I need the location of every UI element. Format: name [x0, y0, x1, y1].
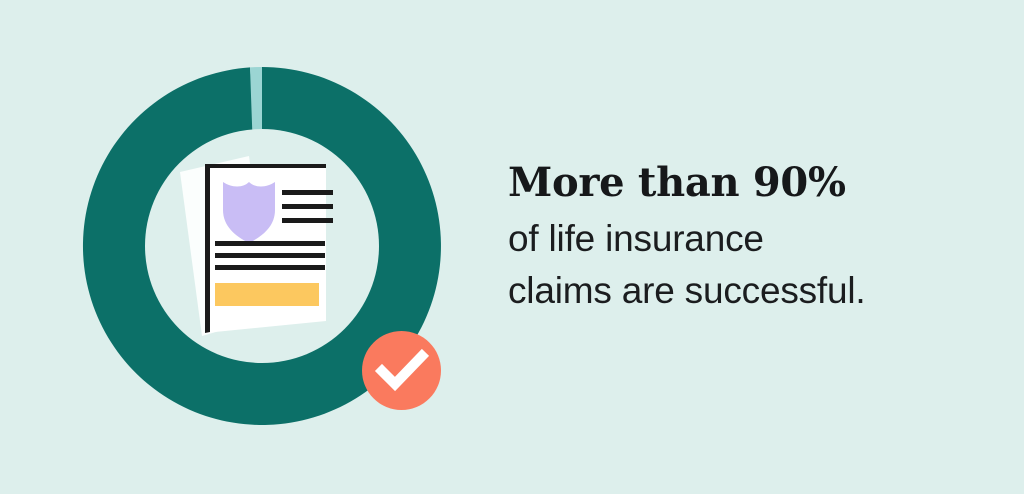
document-left-spine	[205, 164, 210, 333]
body-text: of life insurance claims are successful.	[508, 213, 978, 318]
document-highlight-block	[215, 283, 319, 306]
document-long-rule	[215, 265, 325, 270]
body-line-2: claims are successful.	[508, 265, 978, 318]
donut-chart	[0, 0, 500, 494]
infographic-canvas: More than 90% of life insurance claims a…	[0, 0, 1024, 494]
check-badge	[362, 331, 441, 410]
document-long-rule	[215, 253, 325, 258]
body-line-1: of life insurance	[508, 213, 978, 266]
document-short-rule	[282, 204, 333, 209]
document-short-rule	[282, 190, 333, 195]
headline: More than 90%	[508, 161, 978, 206]
document-short-rule	[282, 218, 333, 223]
document-top-rule	[205, 164, 326, 168]
document-icon	[175, 140, 350, 345]
document-long-rule	[215, 241, 325, 246]
statistic-text-block: More than 90% of life insurance claims a…	[508, 161, 978, 318]
